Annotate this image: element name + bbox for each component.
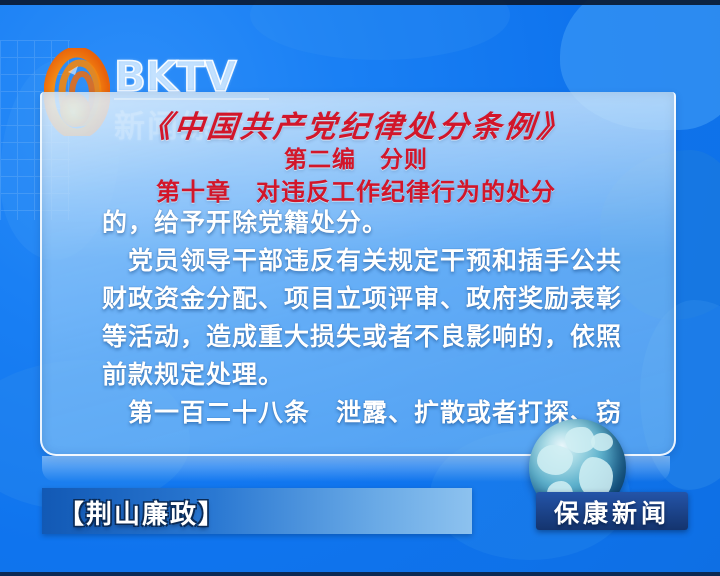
bottom-letterbox-bar <box>0 572 720 576</box>
map-shape <box>250 0 510 60</box>
globe-continent <box>591 433 613 451</box>
regulation-body-text: 的，给予开除党籍处分。 党员领导干部违反有关规定干预和插手公共财政资金分配、项目… <box>102 204 622 432</box>
broadcast-frame: BKTV 新闻综合 《中国共产党纪律处分条例》 第二编 分则 第十章 对违反工作… <box>0 0 720 576</box>
part-heading: 第二编 分则 <box>40 140 672 174</box>
chapter-heading: 第十章 对违反工作纪律行为的处分 <box>40 172 672 207</box>
program-label: 保康新闻 <box>536 494 688 530</box>
panel-content: 《中国共产党纪律处分条例》 第二编 分则 第十章 对违反工作纪律行为的处分 的，… <box>40 92 672 454</box>
top-letterbox-bar <box>0 0 720 5</box>
globe-continent <box>537 445 573 475</box>
segment-label: 【荆山廉政】 <box>58 494 226 531</box>
